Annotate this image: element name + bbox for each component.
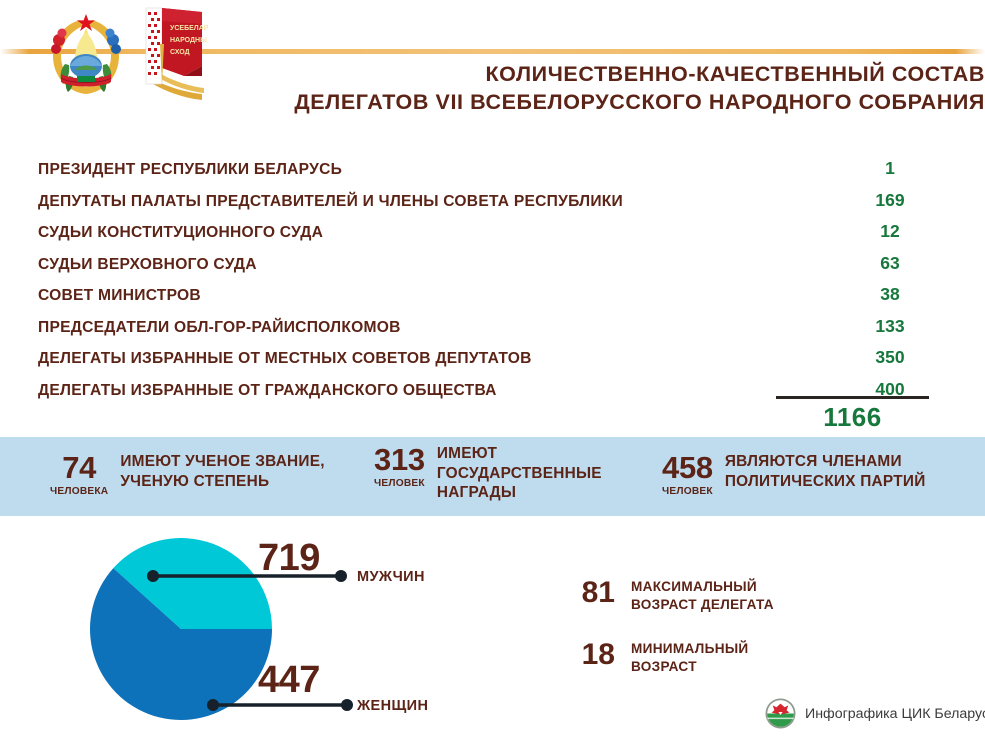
highlight-number-group: 74 ЧЕЛОВЕКА xyxy=(50,452,108,497)
gender-pie-chart xyxy=(90,538,272,720)
age-max-line-2: ВОЗРАСТ ДЕЛЕГАТА xyxy=(631,596,774,614)
pie-label-men: МУЖЧИН xyxy=(357,570,425,585)
highlight-state-awards: 313 ЧЕЛОВЕК ИМЕЮТ ГОСУДАРСТВЕННЫЕ НАГРАД… xyxy=(374,444,602,503)
highlight-unit: ЧЕЛОВЕК xyxy=(374,478,425,489)
list-item-label: ДЕЛЕГАТЫ ИЗБРАННЫЕ ОТ ГРАЖДАНСКОГО ОБЩЕС… xyxy=(38,382,497,400)
infographic-root: УСЕБЕЛАРУСКІ НАРОДНЫ СХОД КОЛИЧЕСТВЕННО-… xyxy=(0,0,985,739)
age-max-number: 81 xyxy=(561,578,615,608)
age-min-line-2: ВОЗРАСТ xyxy=(631,658,749,676)
highlight-description-line-2: ГОСУДАРСТВЕННЫЕ xyxy=(437,464,602,484)
list-item: ДЕПУТАТЫ ПАЛАТЫ ПРЕДСТАВИТЕЛЕЙ И ЧЛЕНЫ С… xyxy=(38,190,950,222)
list-item-value: 169 xyxy=(830,190,950,211)
total-divider-rule xyxy=(776,396,929,399)
footer-credit-text: Инфографика ЦИК Беларуси xyxy=(805,706,985,722)
list-item: СУДЬИ КОНСТИТУЦИОННОГО СУДА 12 xyxy=(38,221,950,253)
highlight-unit: ЧЕЛОВЕК xyxy=(662,486,713,497)
list-item: ПРЕЗИДЕНТ РЕСПУБЛИКИ БЕЛАРУСЬ 1 xyxy=(38,158,950,190)
highlight-number-group: 313 ЧЕЛОВЕК xyxy=(374,444,425,489)
cec-belarus-logo xyxy=(765,698,796,729)
page-title: КОЛИЧЕСТВЕННО-КАЧЕСТВЕННЫЙ СОСТАВ ДЕЛЕГА… xyxy=(165,61,985,117)
page-title-line-1: КОЛИЧЕСТВЕННО-КАЧЕСТВЕННЫЙ СОСТАВ xyxy=(165,61,985,89)
highlight-description-line-1: ЯВЛЯЮТСЯ ЧЛЕНАМИ xyxy=(725,452,926,472)
highlight-description: ИМЕЮТ УЧЕНОЕ ЗВАНИЕ, УЧЕНУЮ СТЕПЕНЬ xyxy=(120,452,324,491)
list-item-label: ДЕЛЕГАТЫ ИЗБРАННЫЕ ОТ МЕСТНЫХ СОВЕТОВ ДЕ… xyxy=(38,350,532,368)
highlight-description-line-3: НАГРАДЫ xyxy=(437,483,602,503)
composition-list: ПРЕЗИДЕНТ РЕСПУБЛИКИ БЕЛАРУСЬ 1 ДЕПУТАТЫ… xyxy=(38,158,950,410)
state-emblem-of-belarus xyxy=(47,6,125,98)
highlight-number: 74 xyxy=(62,452,96,483)
list-item-value: 12 xyxy=(830,221,950,242)
list-item-label: СУДЬИ ВЕРХОВНОГО СУДА xyxy=(38,256,257,274)
highlight-description: ЯВЛЯЮТСЯ ЧЛЕНАМИ ПОЛИТИЧЕСКИХ ПАРТИЙ xyxy=(725,452,926,491)
list-item-value: 133 xyxy=(830,316,950,337)
age-max-delegate: 81 МАКСИМАЛЬНЫЙ ВОЗРАСТ ДЕЛЕГАТА xyxy=(561,578,774,615)
total-delegates-value: 1166 xyxy=(776,402,929,433)
highlight-academic-degrees: 74 ЧЕЛОВЕКА ИМЕЮТ УЧЕНОЕ ЗВАНИЕ, УЧЕНУЮ … xyxy=(50,452,325,497)
highlight-description-line-1: ИМЕЮТ xyxy=(437,444,602,464)
age-max-description: МАКСИМАЛЬНЫЙ ВОЗРАСТ ДЕЛЕГАТА xyxy=(631,578,774,615)
list-item-value: 38 xyxy=(830,284,950,305)
pie-value-women: 447 xyxy=(258,661,320,699)
list-item-label: ПРЕЗИДЕНТ РЕСПУБЛИКИ БЕЛАРУСЬ xyxy=(38,161,342,179)
list-item-label: СУДЬИ КОНСТИТУЦИОННОГО СУДА xyxy=(38,224,323,242)
list-item: СОВЕТ МИНИСТРОВ 38 xyxy=(38,284,950,316)
age-min-line-1: МИНИМАЛЬНЫЙ xyxy=(631,640,749,658)
highlight-number: 458 xyxy=(662,452,713,483)
highlight-number-group: 458 ЧЕЛОВЕК xyxy=(662,452,713,497)
highlight-description-line-2: УЧЕНУЮ СТЕПЕНЬ xyxy=(120,472,324,492)
pie-label-women: ЖЕНЩИН xyxy=(357,699,428,714)
footer-credit: Инфографика ЦИК Беларуси xyxy=(765,698,985,729)
highlight-party-members: 458 ЧЕЛОВЕК ЯВЛЯЮТСЯ ЧЛЕНАМИ ПОЛИТИЧЕСКИ… xyxy=(662,452,926,497)
highlight-description: ИМЕЮТ ГОСУДАРСТВЕННЫЕ НАГРАДЫ xyxy=(437,444,602,503)
svg-text:УСЕБЕЛАРУСКІ: УСЕБЕЛАРУСКІ xyxy=(170,25,208,32)
age-max-line-1: МАКСИМАЛЬНЫЙ xyxy=(631,578,774,596)
list-item-label: ПРЕДСЕДАТЕЛИ ОБЛ-ГОР-РАЙИСПОЛКОМОВ xyxy=(38,319,401,337)
svg-text:НАРОДНЫ: НАРОДНЫ xyxy=(170,37,207,44)
highlight-description-line-2: ПОЛИТИЧЕСКИХ ПАРТИЙ xyxy=(725,472,926,492)
svg-text:СХОД: СХОД xyxy=(170,49,190,56)
list-item-value: 350 xyxy=(830,347,950,368)
list-item: ПРЕДСЕДАТЕЛИ ОБЛ-ГОР-РАЙИСПОЛКОМОВ 133 xyxy=(38,316,950,348)
highlight-description-line-1: ИМЕЮТ УЧЕНОЕ ЗВАНИЕ, xyxy=(120,452,324,472)
age-min-description: МИНИМАЛЬНЫЙ ВОЗРАСТ xyxy=(631,640,749,677)
highlight-unit: ЧЕЛОВЕКА xyxy=(50,486,108,497)
list-item-label: ДЕПУТАТЫ ПАЛАТЫ ПРЕДСТАВИТЕЛЕЙ И ЧЛЕНЫ С… xyxy=(38,193,623,211)
page-title-line-2: ДЕЛЕГАТОВ VII ВСЕБЕЛОРУССКОГО НАРОДНОГО … xyxy=(165,89,985,117)
pie-value-men: 719 xyxy=(258,539,320,577)
list-item-value: 63 xyxy=(830,253,950,274)
age-min-number: 18 xyxy=(561,640,615,670)
list-item-label: СОВЕТ МИНИСТРОВ xyxy=(38,287,201,305)
age-min-delegate: 18 МИНИМАЛЬНЫЙ ВОЗРАСТ xyxy=(561,640,749,677)
list-item: СУДЬИ ВЕРХОВНОГО СУДА 63 xyxy=(38,253,950,285)
list-item-value: 1 xyxy=(830,158,950,179)
highlight-number: 313 xyxy=(374,444,425,475)
list-item: ДЕЛЕГАТЫ ИЗБРАННЫЕ ОТ МЕСТНЫХ СОВЕТОВ ДЕ… xyxy=(38,347,950,379)
